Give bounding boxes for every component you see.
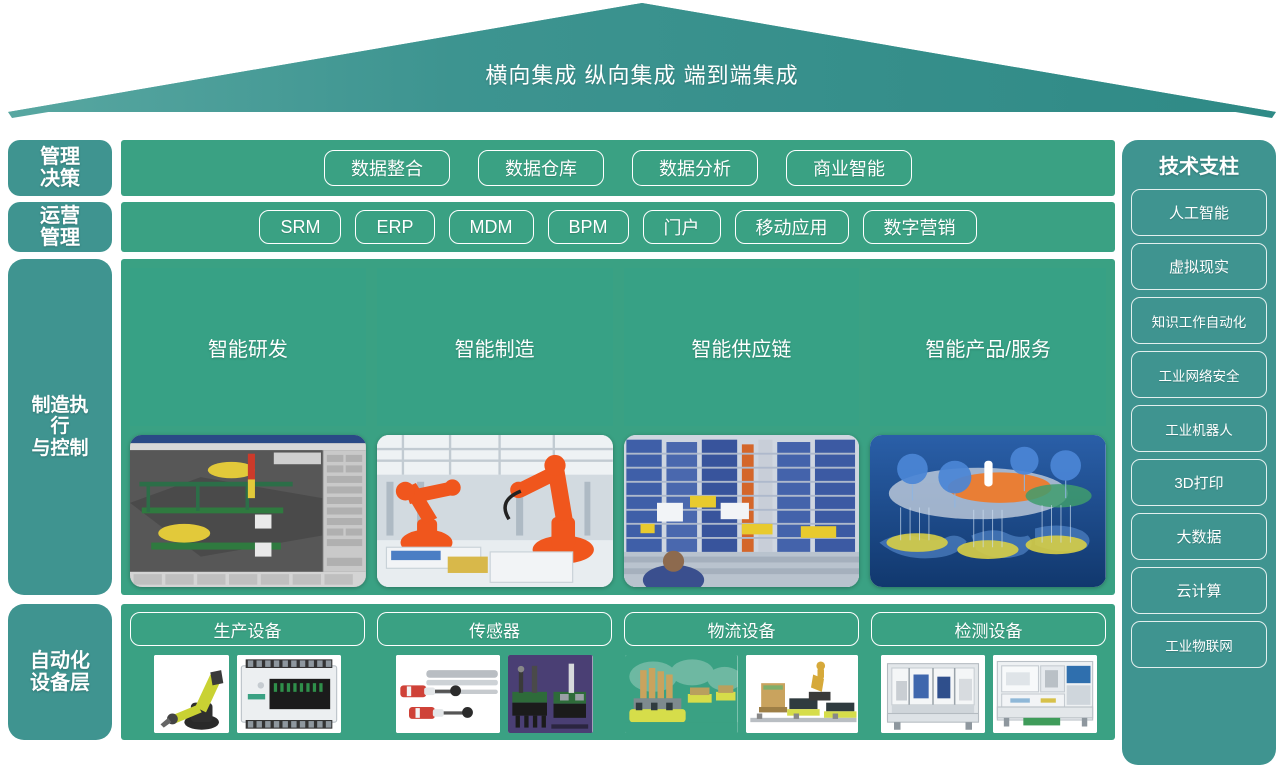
automation-pill[interactable]: 物流设备 xyxy=(624,612,859,646)
cloud-iot-world-map-diagram xyxy=(870,435,1106,587)
execution-column: 智能供应链 xyxy=(624,268,860,595)
left-layer-rail: 管理决策 运营管理 制造执行与控制 自动化设备层 xyxy=(8,140,112,740)
automation-image-group xyxy=(624,655,859,733)
layer-label-text: 运营管理 xyxy=(40,205,80,250)
roof-title: 横向集成 纵向集成 端到端集成 xyxy=(0,58,1284,90)
decision-pill[interactable]: 商业智能 xyxy=(786,150,912,186)
decision-pill[interactable]: 数据分析 xyxy=(632,150,758,186)
execution-column-title[interactable]: 智能产品/服务 xyxy=(870,268,1106,426)
layer-label-text: 自动化设备层 xyxy=(30,650,90,695)
technology-pillars-list: 人工智能虚拟现实知识工作自动化工业网络安全工业机器人3D打印大数据云计算工业物联… xyxy=(1131,189,1267,668)
smart-factory-architecture-diagram: 横向集成 纵向集成 端到端集成 管理决策 运营管理 制造执行与控制 自动化设备层… xyxy=(0,0,1284,765)
pallet-loading-agv xyxy=(746,655,859,733)
execution-column-title[interactable]: 智能供应链 xyxy=(624,268,860,426)
cad-simulation-screenshot xyxy=(130,435,366,587)
technology-pillars-title: 技术支柱 xyxy=(1131,150,1267,179)
automation-pill[interactable]: 检测设备 xyxy=(871,612,1106,646)
technology-pillar-item[interactable]: 人工智能 xyxy=(1131,189,1267,236)
decision-band: 数据整合数据仓库数据分析商业智能 xyxy=(121,140,1115,196)
agv-transport-vehicles xyxy=(625,655,738,733)
automation-image-group xyxy=(871,655,1106,733)
execution-column: 智能产品/服务 xyxy=(870,268,1106,595)
operation-band: SRMERPMDMBPM门户移动应用数字营销 xyxy=(121,202,1115,252)
operation-pill[interactable]: SRM xyxy=(259,210,341,244)
automation-pill[interactable]: 生产设备 xyxy=(130,612,365,646)
layer-label-automation-equipment[interactable]: 自动化设备层 xyxy=(8,604,112,740)
layer-label-text: 制造执行与控制 xyxy=(31,395,88,459)
technology-pillar-item[interactable]: 工业物联网 xyxy=(1131,621,1267,668)
technology-pillar-item[interactable]: 知识工作自动化 xyxy=(1131,297,1267,344)
execution-column-title[interactable]: 智能制造 xyxy=(377,268,613,426)
center-stack: 数据整合数据仓库数据分析商业智能 SRMERPMDMBPM门户移动应用数字营销 … xyxy=(121,140,1115,740)
layer-label-text: 管理决策 xyxy=(40,146,80,191)
technology-pillar-item[interactable]: 工业机器人 xyxy=(1131,405,1267,452)
technology-pillar-item[interactable]: 虚拟现实 xyxy=(1131,243,1267,290)
automation-pill[interactable]: 传感器 xyxy=(377,612,612,646)
operation-pill[interactable]: 门户 xyxy=(643,210,721,244)
pcb-sensor-modules xyxy=(508,655,593,733)
operation-pill[interactable]: MDM xyxy=(449,210,534,244)
orange-industrial-robots-factory xyxy=(377,435,613,587)
execution-column: 智能研发 xyxy=(130,268,366,595)
linear-position-sensors xyxy=(396,655,500,733)
inspection-machine-left xyxy=(881,655,985,733)
automation-image-group xyxy=(130,655,365,733)
decision-pill[interactable]: 数据整合 xyxy=(324,150,450,186)
layer-label-execution-control[interactable]: 制造执行与控制 xyxy=(8,259,112,595)
operation-pill[interactable]: 移动应用 xyxy=(735,210,849,244)
roof-banner: 横向集成 纵向集成 端到端集成 xyxy=(0,0,1284,118)
automated-warehouse-blue-bins xyxy=(624,435,860,587)
automation-pill-row: 生产设备传感器物流设备检测设备 xyxy=(130,612,1106,646)
yellow-robot-arm xyxy=(154,655,230,733)
execution-panel: 智能研发 xyxy=(121,259,1115,595)
execution-column-title[interactable]: 智能研发 xyxy=(130,268,366,426)
layer-label-management-decision[interactable]: 管理决策 xyxy=(8,140,112,196)
operation-pill[interactable]: 数字营销 xyxy=(863,210,977,244)
technology-pillars-rail: 技术支柱 人工智能虚拟现实知识工作自动化工业网络安全工业机器人3D打印大数据云计… xyxy=(1122,140,1276,765)
operation-pill[interactable]: ERP xyxy=(355,210,434,244)
automation-image-row xyxy=(130,655,1106,733)
white-plc-controller xyxy=(237,655,341,733)
technology-pillar-item[interactable]: 工业网络安全 xyxy=(1131,351,1267,398)
operation-pill[interactable]: BPM xyxy=(548,210,629,244)
technology-pillar-item[interactable]: 3D打印 xyxy=(1131,459,1267,506)
decision-pill[interactable]: 数据仓库 xyxy=(478,150,604,186)
execution-column: 智能制造 xyxy=(377,268,613,595)
technology-pillar-item[interactable]: 云计算 xyxy=(1131,567,1267,614)
inspection-machine-right xyxy=(993,655,1097,733)
layer-label-operation-management[interactable]: 运营管理 xyxy=(8,202,112,252)
automation-panel: 生产设备传感器物流设备检测设备 xyxy=(121,604,1115,740)
technology-pillar-item[interactable]: 大数据 xyxy=(1131,513,1267,560)
automation-image-group xyxy=(377,655,612,733)
